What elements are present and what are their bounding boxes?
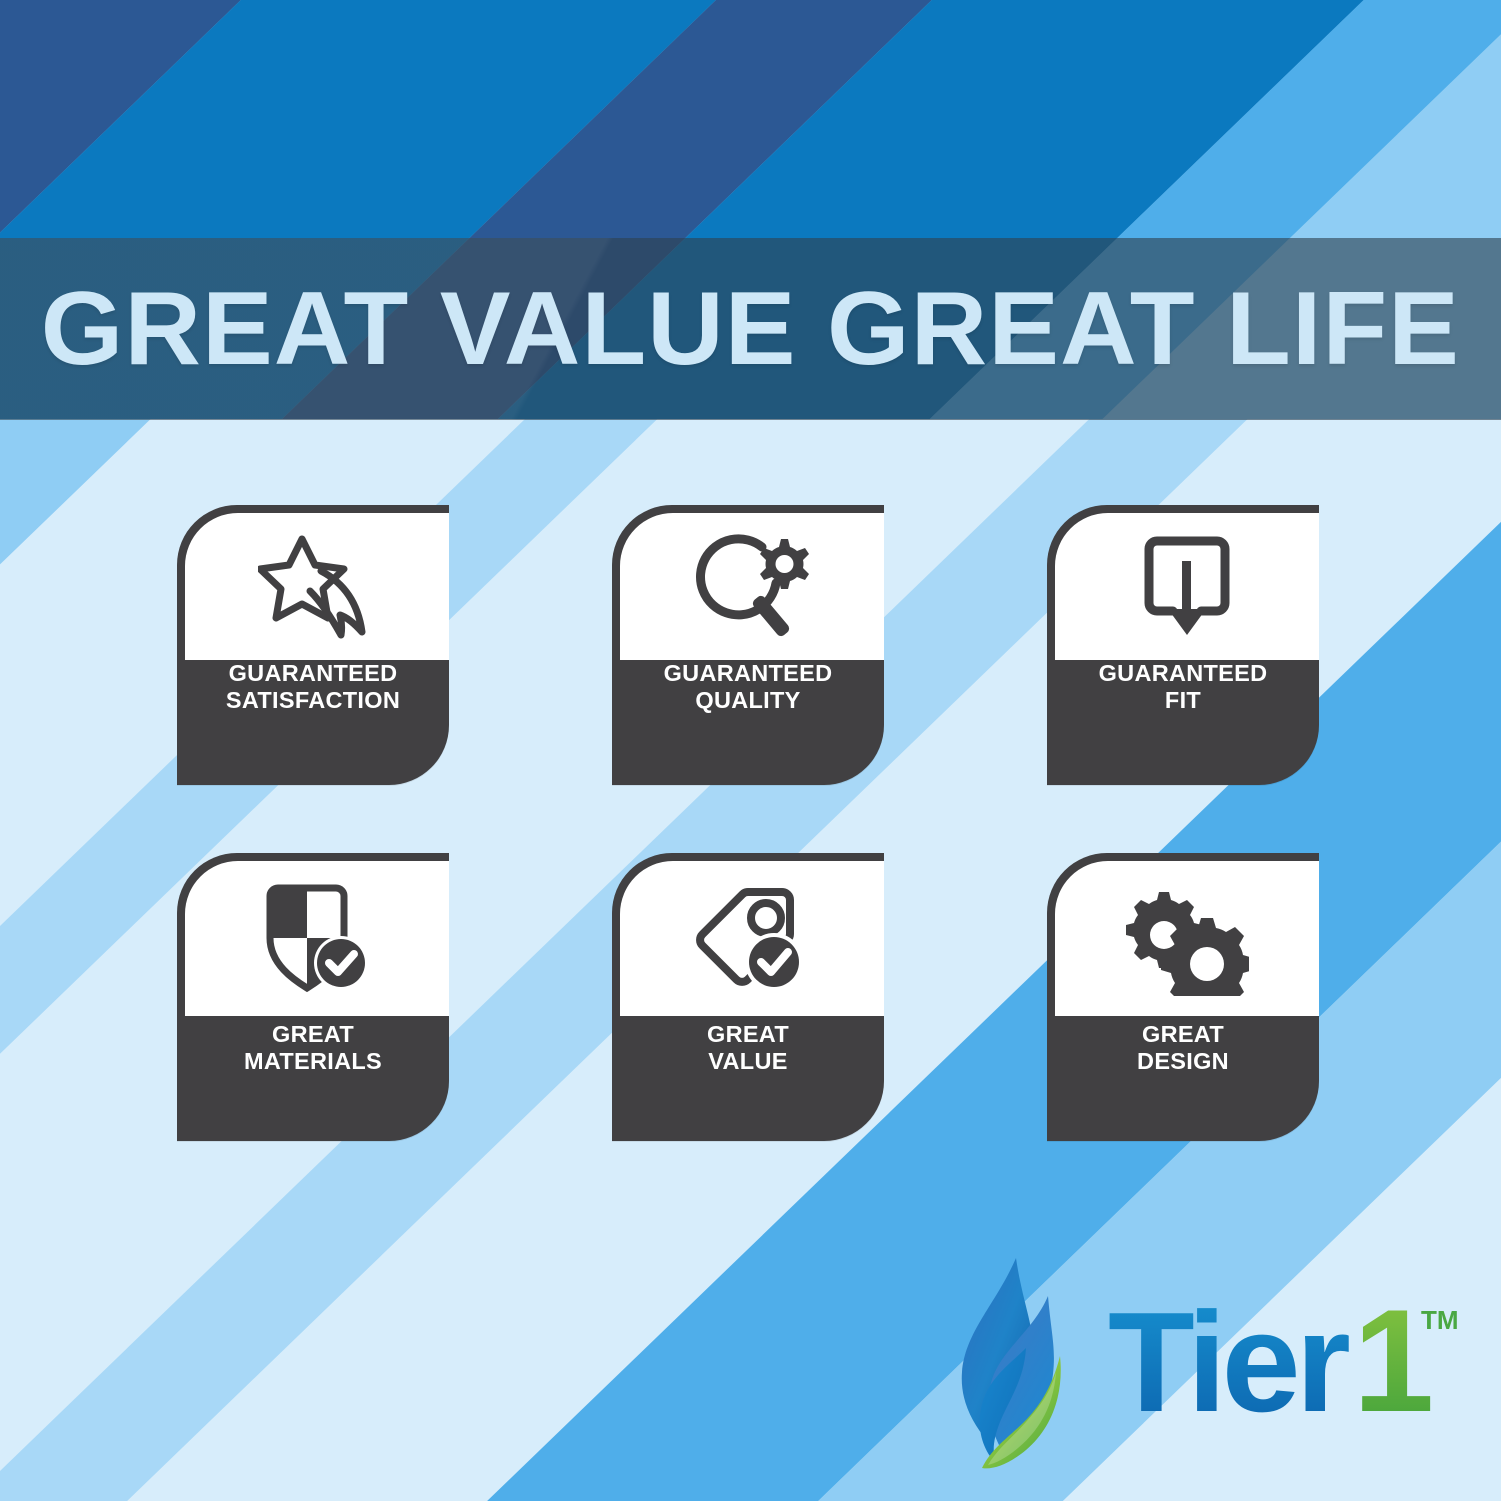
headline-banner: GREAT VALUE GREAT LIFE	[0, 238, 1501, 420]
logo-trademark: TM	[1421, 1305, 1459, 1335]
card-label-line1: GUARANTEED	[664, 660, 833, 686]
logo-wordmark: Tier 1 TM	[1108, 1287, 1468, 1447]
card-label: GREAT MATERIALS	[177, 1021, 449, 1076]
gears-icon	[1125, 882, 1249, 996]
card-icon-area	[185, 513, 449, 660]
feature-card-great-materials[interactable]: GREAT MATERIALS	[177, 853, 449, 1141]
shooting-star-icon	[258, 531, 376, 643]
shield-check-icon	[258, 882, 376, 996]
magnifier-gear-icon	[692, 531, 812, 643]
card-label-line2: VALUE	[622, 1048, 874, 1075]
card-label: GREAT VALUE	[612, 1021, 884, 1076]
tier1-logo: Tier 1 TM	[952, 1247, 1472, 1487]
insert-down-arrow-icon	[1135, 531, 1239, 643]
card-label: GUARANTEED SATISFACTION	[177, 660, 449, 715]
card-icon-area	[620, 513, 884, 660]
card-icon-area	[185, 861, 449, 1016]
flame-leaf-icon	[952, 1252, 1100, 1482]
logo-word-tier: Tier	[1108, 1287, 1350, 1442]
card-label-line1: GREAT	[1142, 1021, 1224, 1047]
card-label: GUARANTEED QUALITY	[612, 660, 884, 715]
card-label: GREAT DESIGN	[1047, 1021, 1319, 1076]
card-label-line2: FIT	[1057, 687, 1309, 714]
card-label-line2: MATERIALS	[187, 1048, 439, 1075]
card-icon-area	[1055, 861, 1319, 1016]
feature-card-great-design[interactable]: GREAT DESIGN	[1047, 853, 1319, 1141]
promo-poster: GREAT VALUE GREAT LIFE GUARANTEED SATISF…	[0, 0, 1501, 1501]
card-label-line1: GUARANTEED	[1099, 660, 1268, 686]
card-label-line2: DESIGN	[1057, 1048, 1309, 1075]
card-label-line2: SATISFACTION	[187, 687, 439, 714]
card-label-line1: GREAT	[707, 1021, 789, 1047]
feature-card-guaranteed-quality[interactable]: GUARANTEED QUALITY	[612, 505, 884, 785]
card-label-line1: GUARANTEED	[229, 660, 398, 686]
card-label: GUARANTEED FIT	[1047, 660, 1319, 715]
feature-card-guaranteed-satisfaction[interactable]: GUARANTEED SATISFACTION	[177, 505, 449, 785]
feature-card-great-value[interactable]: GREAT VALUE	[612, 853, 884, 1141]
feature-card-guaranteed-fit[interactable]: GUARANTEED FIT	[1047, 505, 1319, 785]
card-label-line1: GREAT	[272, 1021, 354, 1047]
feature-card-grid: GUARANTEED SATISFACTION GUARANTEED QUALI…	[177, 505, 1337, 1141]
card-label-line2: QUALITY	[622, 687, 874, 714]
page-title: GREAT VALUE GREAT LIFE	[0, 277, 1460, 381]
card-icon-area	[1055, 513, 1319, 660]
logo-wordmark-group: Tier 1 TM	[1108, 1287, 1468, 1447]
card-icon-area	[620, 861, 884, 1016]
price-tag-check-icon	[690, 882, 814, 996]
